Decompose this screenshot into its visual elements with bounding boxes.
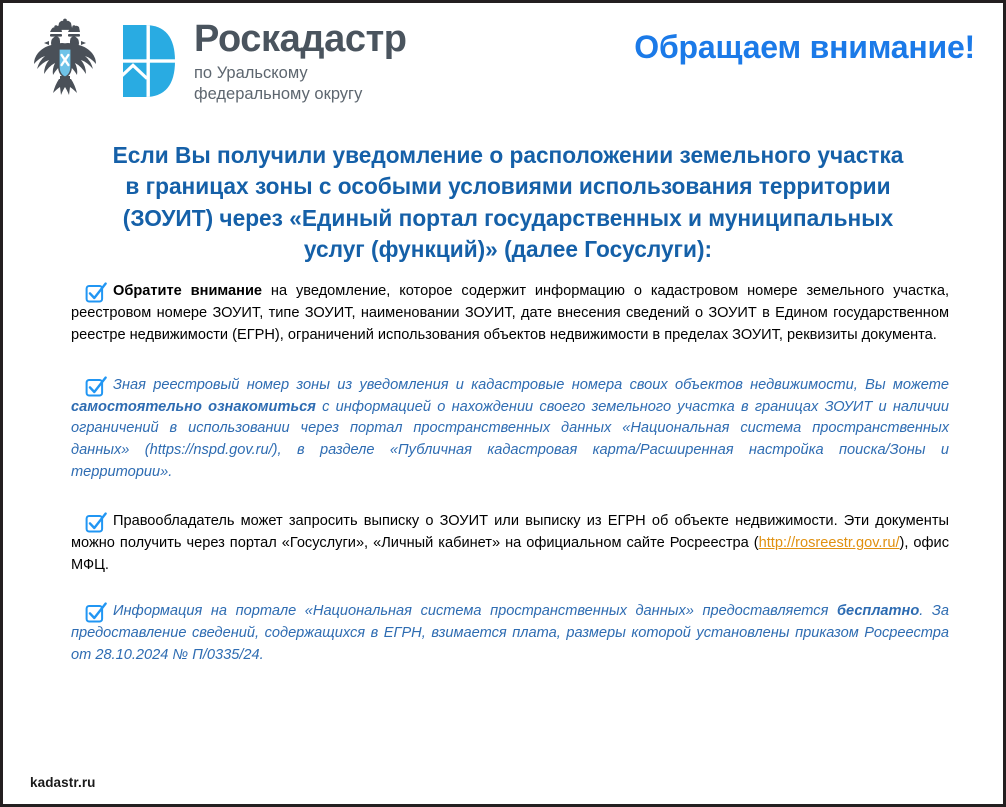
- paragraph-4-before: Информация на портале «Национальная сист…: [113, 603, 837, 619]
- heading-line-2: в границах зоны с особыми условиями испо…: [79, 171, 938, 202]
- paragraph-4-bold-phrase: бесплатно: [837, 603, 919, 619]
- page-header: Роскадастр по Уральскому федеральному ок…: [3, 3, 1006, 121]
- page-title: Если Вы получили уведомление о расположе…: [79, 140, 938, 265]
- heading-line-4: услуг (функций)» (далее Госуслуги):: [79, 234, 938, 265]
- bullet-paragraph-2: Зная реестровый номер зоны из уведомлени…: [71, 375, 949, 484]
- roskadastr-emblem-icon: [115, 21, 181, 101]
- checkbox-checked-icon: [85, 512, 107, 534]
- paragraph-1-text: Обратите внимание на уведомление, которо…: [71, 281, 949, 347]
- paragraph-2-bold-phrase: самостоятельно ознакомиться: [71, 399, 316, 415]
- footer-site-label: kadastr.ru: [30, 775, 96, 790]
- attention-title: Обращаем внимание!: [634, 29, 975, 66]
- rosreestr-link[interactable]: http://rosreestr.gov.ru/: [759, 535, 900, 551]
- organization-logo: Роскадастр по Уральскому федеральному ок…: [29, 17, 407, 105]
- checkbox-checked-icon: [85, 282, 107, 304]
- bullet-paragraph-1: Обратите внимание на уведомление, которо…: [71, 281, 949, 347]
- heading-line-3: (ЗОУИТ) через «Единый портал государстве…: [79, 203, 938, 234]
- checkbox-checked-icon: [85, 602, 107, 624]
- brand-name: Роскадастр: [194, 20, 407, 58]
- paragraph-1-bold-lead: Обратите внимание: [113, 283, 262, 299]
- checkbox-checked-icon: [85, 376, 107, 398]
- paragraph-2-text: Зная реестровый номер зоны из уведомлени…: [71, 375, 949, 484]
- paragraph-3-text: Правообладатель может запросить выписку …: [71, 511, 949, 577]
- paragraph-4-text: Информация на портале «Национальная сист…: [71, 601, 949, 667]
- heading-line-1: Если Вы получили уведомление о расположе…: [79, 140, 938, 171]
- brand-subtitle: по Уральскому федеральному округу: [194, 63, 407, 103]
- informational-poster-page: Роскадастр по Уральскому федеральному ок…: [0, 0, 1006, 807]
- russian-coat-of-arms-eagle-icon: [29, 17, 101, 105]
- bullet-paragraph-4: Информация на портале «Национальная сист…: [71, 601, 949, 667]
- bullet-paragraph-3: Правообладатель может запросить выписку …: [71, 511, 949, 577]
- brand-text: Роскадастр по Уральскому федеральному ок…: [194, 18, 407, 103]
- content-body: Обратите внимание на уведомление, которо…: [71, 281, 949, 666]
- paragraph-2-before: Зная реестровый номер зоны из уведомлени…: [113, 377, 949, 393]
